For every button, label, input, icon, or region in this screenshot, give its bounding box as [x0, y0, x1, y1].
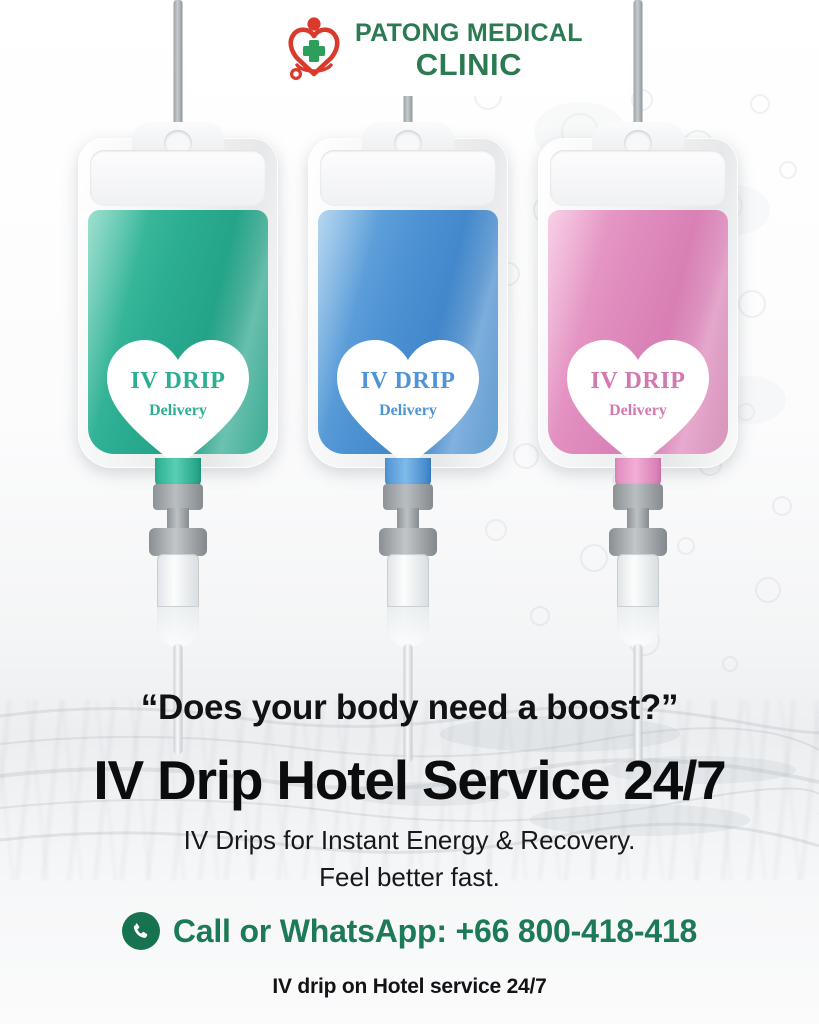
- bag-label-subtitle: Delivery: [103, 402, 253, 420]
- bag-label-title: IV DRIP: [103, 368, 253, 395]
- heart-label: IV DRIP Delivery: [333, 334, 483, 470]
- iv-bag-shell: IV DRIP Delivery: [78, 138, 278, 468]
- phone-icon[interactable]: [122, 912, 160, 950]
- iv-bag-shell: IV DRIP Delivery: [538, 138, 738, 468]
- drip-flange: [379, 528, 437, 556]
- drip-cap: [613, 484, 663, 510]
- subtitle-line-1: IV Drips for Instant Energy & Recovery.: [0, 822, 819, 859]
- drip-cap: [153, 484, 203, 510]
- bag-label-subtitle: Delivery: [333, 402, 483, 420]
- bag-air-window: [320, 150, 496, 206]
- brand-name-line1: PATONG MEDICAL: [355, 21, 583, 46]
- tagline-quote: “Does your body need a boost?”: [0, 688, 819, 728]
- brand-name-line2: CLINIC: [355, 49, 583, 80]
- brand-name: PATONG MEDICAL CLINIC: [355, 21, 583, 80]
- stethoscope-heart-medical-cross-icon: [283, 16, 345, 84]
- bag-label-title: IV DRIP: [563, 368, 713, 395]
- drip-chamber: [617, 554, 659, 646]
- subtitle-line-2: Feel better fast.: [0, 859, 819, 896]
- poster-canvas: IV DRIP Delivery IV DRIP Delivery: [0, 0, 819, 1024]
- heart-label: IV DRIP Delivery: [103, 334, 253, 470]
- page-title: IV Drip Hotel Service 24/7: [0, 748, 819, 812]
- drip-flange: [149, 528, 207, 556]
- heart-label: IV DRIP Delivery: [563, 334, 713, 470]
- cta-text: Call or WhatsApp: +66 800-418-418: [173, 913, 697, 950]
- subtitle: IV Drips for Instant Energy & Recovery. …: [0, 822, 819, 896]
- drip-cap: [383, 484, 433, 510]
- bag-label-title: IV DRIP: [333, 368, 483, 395]
- brand-logo[interactable]: PATONG MEDICAL CLINIC: [283, 12, 613, 88]
- drip-chamber: [157, 554, 199, 646]
- footer-note: IV drip on Hotel service 24/7: [0, 975, 819, 999]
- iv-bag-pink[interactable]: IV DRIP Delivery: [523, 100, 753, 700]
- iv-bag-shell: IV DRIP Delivery: [308, 138, 508, 468]
- bag-label-subtitle: Delivery: [563, 402, 713, 420]
- iv-bag-green[interactable]: IV DRIP Delivery: [63, 100, 293, 700]
- bag-air-window: [550, 150, 726, 206]
- bag-air-window: [90, 150, 266, 206]
- iv-bag-blue[interactable]: IV DRIP Delivery: [293, 100, 523, 700]
- drip-chamber: [387, 554, 429, 646]
- drip-flange: [609, 528, 667, 556]
- call-whatsapp-cta[interactable]: Call or WhatsApp: +66 800-418-418: [0, 912, 819, 950]
